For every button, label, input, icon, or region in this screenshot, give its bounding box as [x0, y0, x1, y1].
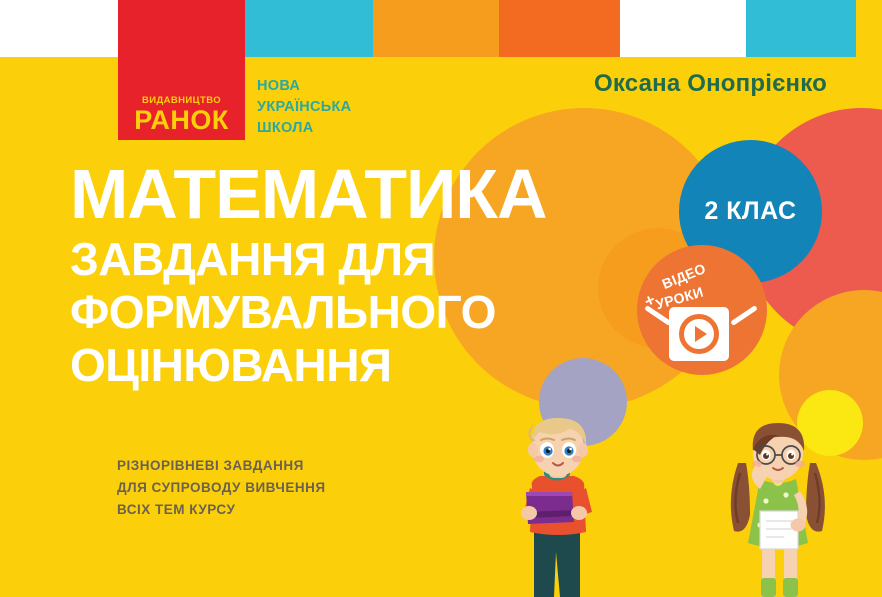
program-line-3: ШКОЛА [257, 118, 351, 139]
subtitle: ЗАВДАННЯ ДЛЯ ФОРМУВАЛЬНОГО ОЦІНЮВАННЯ [70, 233, 690, 392]
play-triangle [695, 326, 707, 342]
video-lessons-badge: + ВІДЕО УРОКИ [637, 245, 767, 375]
strip-segment-cyan [245, 0, 373, 57]
boy-with-book [496, 412, 616, 597]
strip-segment-orange [373, 0, 499, 57]
program-line-2: УКРАЇНСЬКА [257, 97, 351, 118]
publisher-logo: ВИДАВНИЦТВО РАНОК [118, 34, 245, 140]
strip-segment-yellow-end [856, 0, 882, 57]
subtitle-line-2: ФОРМУВАЛЬНОГО [70, 286, 690, 339]
descriptor-line-3: ВСІХ ТЕМ КУРСУ [117, 499, 326, 521]
strip-segment-white-right [620, 0, 746, 57]
publisher-name: РАНОК [134, 107, 229, 134]
program-label: НОВА УКРАЇНСЬКА ШКОЛА [257, 76, 351, 139]
strip-segment-deep-orange [499, 0, 620, 57]
descriptor-line-2: ДЛЯ СУПРОВОДУ ВИВЧЕННЯ [117, 477, 326, 499]
strip-segment-cyan-right [746, 0, 856, 57]
page-title: МАТЕМАТИКА [70, 158, 690, 230]
strip-segment-white-left [0, 0, 118, 57]
subtitle-line-3: ОЦІНЮВАННЯ [70, 339, 690, 392]
play-button-icon [669, 307, 729, 361]
descriptor-text: РІЗНОРІВНЕВІ ЗАВДАННЯ ДЛЯ СУПРОВОДУ ВИВЧ… [117, 455, 326, 521]
girl-with-paper [716, 415, 841, 597]
title-block: МАТЕМАТИКА ЗАВДАННЯ ДЛЯ ФОРМУВАЛЬНОГО ОЦ… [70, 158, 690, 392]
descriptor-line-1: РІЗНОРІВНЕВІ ЗАВДАННЯ [117, 455, 326, 477]
subtitle-line-1: ЗАВДАННЯ ДЛЯ [70, 233, 690, 286]
badge-ray-right [730, 305, 758, 326]
program-line-1: НОВА [257, 76, 351, 97]
grade-badge-label: 2 КЛАС [704, 197, 796, 226]
author-name: Оксана Онопрієнко [594, 70, 827, 98]
book-cover: ВИДАВНИЦТВО РАНОК НОВА УКРАЇНСЬКА ШКОЛА … [0, 0, 882, 597]
play-ring [679, 314, 719, 354]
